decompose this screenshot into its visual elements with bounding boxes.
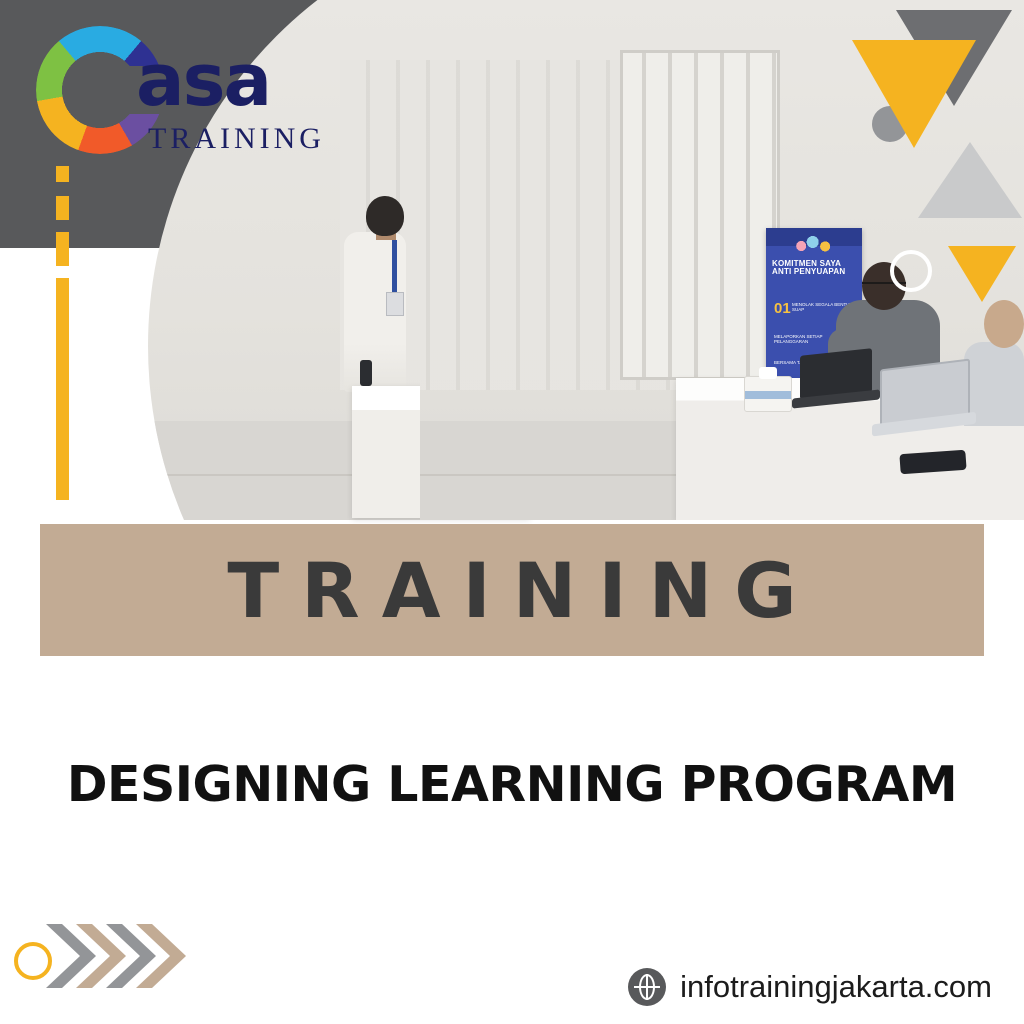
- poster-canvas: KOMITMEN SAYA ANTI PENYUAPAN 01 MENOLAK …: [0, 0, 1024, 1024]
- training-band-label: TRAINING: [205, 546, 818, 635]
- road-dash-1: [56, 166, 69, 182]
- window-frame-right: [620, 50, 780, 380]
- presenter-head: [366, 196, 404, 236]
- website-url[interactable]: infotrainingjakarta.com: [680, 969, 992, 1005]
- laptop-dark: [800, 348, 872, 400]
- banner-title: KOMITMEN SAYA ANTI PENYUAPAN: [772, 260, 856, 277]
- triangle-yellow-icon: [852, 40, 976, 148]
- circle-outline-icon: [890, 250, 932, 292]
- presenter-lanyard: [392, 240, 397, 296]
- tissue-box-right: [744, 376, 792, 412]
- road-dash-4: [56, 278, 69, 500]
- road-dash-3: [56, 232, 69, 266]
- banner-sub-2: MELAPORKAN SETIAP PELANGGARAN: [774, 334, 826, 345]
- page-title: DESIGNING LEARNING PROGRAM: [0, 756, 1024, 813]
- banner-badge-01: 01: [774, 300, 791, 317]
- microphone: [360, 360, 372, 386]
- globe-icon: [628, 968, 666, 1006]
- logo-subtitle: TRAINING: [148, 122, 325, 156]
- road-dash-2: [56, 196, 69, 220]
- training-band: TRAINING: [40, 524, 984, 656]
- triangle-lightgrey-icon: [918, 142, 1022, 218]
- presenter-badge: [386, 292, 404, 316]
- triangle-yellow-small-icon: [948, 246, 1016, 302]
- logo-wordmark: asa: [136, 44, 270, 116]
- brand-logo: asa TRAINING: [28, 18, 348, 158]
- banner-illustration: [792, 234, 838, 254]
- circle-outline-icon-bottom: [14, 942, 52, 980]
- website-footer[interactable]: infotrainingjakarta.com: [628, 968, 992, 1006]
- laptop-silver: [880, 358, 970, 427]
- participant-2-head: [984, 300, 1024, 348]
- chevron-group: [10, 918, 200, 994]
